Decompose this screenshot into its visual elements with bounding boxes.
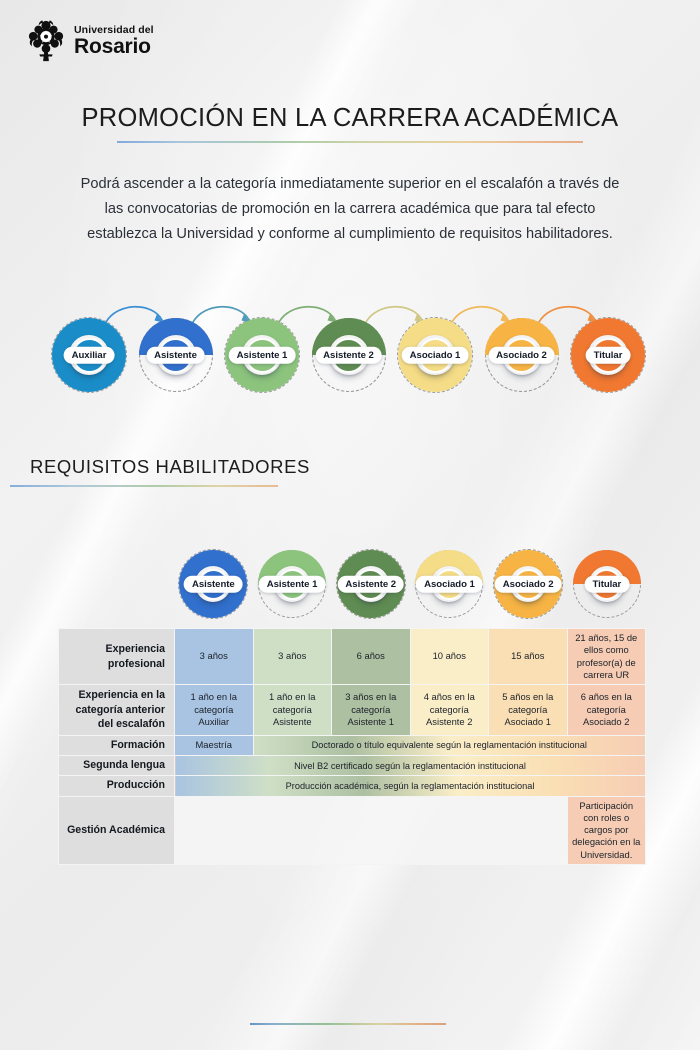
ladder-node: Asociado 2 [485, 318, 559, 392]
ladder-node: Auxiliar [52, 318, 126, 392]
table-cell: 3 años [253, 629, 332, 685]
ladder-node: Titular [573, 550, 641, 618]
table-row: Experiencia profesional3 años3 años6 año… [59, 629, 646, 685]
table-cell: Participación con roles o cargos por del… [567, 796, 646, 864]
node-label-pill: Asociado 2 [495, 576, 562, 593]
ladder-node: Asociado 2 [494, 550, 562, 618]
node-label-pill: Asociado 1 [402, 347, 469, 364]
node-label-pill: Asistente [146, 347, 205, 364]
rosario-crest-icon [26, 18, 66, 62]
table-row-header: Gestión Académica [59, 796, 175, 864]
node-label-pill: Asistente 2 [337, 576, 404, 593]
node-label-pill: Asistente [184, 576, 243, 593]
table-row: Segunda lenguaNivel B2 certificado según… [59, 755, 646, 775]
logo-wordmark: Universidad del Rosario [74, 23, 154, 58]
table-cell: 15 años [489, 629, 568, 685]
table-row-header: Experiencia profesional [59, 629, 175, 685]
table-cell: 6 años en la categoría Asociado 2 [567, 685, 646, 736]
logo-line-2: Rosario [74, 36, 154, 57]
table-cell: 10 años [410, 629, 489, 685]
node-label-pill: Asistente 1 [259, 576, 326, 593]
table-row: Experiencia en la categoría anterior del… [59, 685, 646, 736]
table-row-header: Producción [59, 776, 175, 796]
ladder-node: Asistente 1 [258, 550, 326, 618]
logo-line-1: Universidad del [74, 25, 154, 36]
background-diagonal-sheen-1 [0, 0, 700, 1050]
infographic-page: Universidad del Rosario PROMOCIÓN EN LA … [0, 0, 700, 1050]
table-row-header: Segunda lengua [59, 755, 175, 775]
table-cell: 21 años, 15 de ellos como profesor(a) de… [567, 629, 646, 685]
background-vignette [0, 0, 700, 1050]
table-row-header: Experiencia en la categoría anterior del… [59, 685, 175, 736]
career-ladder-diagram: AuxiliarAsistenteAsistente 1Asistente 2A… [0, 300, 700, 400]
table-cell-span: Producción académica, según la reglament… [175, 776, 646, 796]
ladder-node: Asociado 1 [415, 550, 483, 618]
node-label-pill: Asistente 1 [229, 347, 296, 364]
title-divider [117, 141, 583, 143]
table-row: FormaciónMaestríaDoctorado o título equi… [59, 735, 646, 755]
ladder-node: Asistente [179, 550, 247, 618]
node-label-pill: Asociado 2 [488, 347, 555, 364]
ladder-node: Titular [571, 318, 645, 392]
table-cell: 5 años en la categoría Asociado 1 [489, 685, 568, 736]
node-label-pill: Auxiliar [64, 347, 115, 364]
table-cell-empty [175, 796, 568, 864]
table-cell: 4 años en la categoría Asistente 2 [410, 685, 489, 736]
table-cell: Maestría [175, 735, 254, 755]
table-cell: 3 años [175, 629, 254, 685]
node-label-pill: Titular [586, 347, 631, 364]
section-divider [10, 485, 278, 487]
background-diagonal-sheen-2 [0, 0, 700, 1050]
ladder-node: Asistente [139, 318, 213, 392]
table-cell-span: Doctorado o título equivalente según la … [253, 735, 646, 755]
table-cell: 3 años en la categoría Asistente 1 [332, 685, 411, 736]
table-cell-span: Nivel B2 certificado según la reglamenta… [175, 755, 646, 775]
node-label-pill: Asociado 1 [416, 576, 483, 593]
ladder-node: Asistente 2 [312, 318, 386, 392]
table-row-header: Formación [59, 735, 175, 755]
background-diagonal-sheen-3 [0, 0, 700, 1050]
background-base [0, 0, 700, 1050]
ladder-node: Asociado 1 [398, 318, 472, 392]
requirements-table: Experiencia profesional3 años3 años6 año… [58, 628, 646, 865]
ladder-node: Asistente 2 [337, 550, 405, 618]
section-title: REQUISITOS HABILITADORES [30, 456, 310, 478]
table-row: ProducciónProducción académica, según la… [59, 776, 646, 796]
footer-divider [250, 1023, 446, 1025]
table-cell: 6 años [332, 629, 411, 685]
table-cell: 1 año en la categoría Asistente [253, 685, 332, 736]
node-label-pill: Titular [584, 576, 629, 593]
university-logo: Universidad del Rosario [26, 18, 154, 62]
table-row: Gestión AcadémicaParticipación con roles… [59, 796, 646, 864]
page-title: PROMOCIÓN EN LA CARRERA ACADÉMICA [0, 104, 700, 133]
node-label-pill: Asistente 2 [315, 347, 382, 364]
table-cell: 1 año en la categoría Auxiliar [175, 685, 254, 736]
ladder-node: Asistente 1 [225, 318, 299, 392]
intro-paragraph: Podrá ascender a la categoría inmediatam… [72, 172, 628, 247]
requirements-ladder-diagram: AsistenteAsistente 1Asistente 2Asociado … [0, 540, 700, 636]
